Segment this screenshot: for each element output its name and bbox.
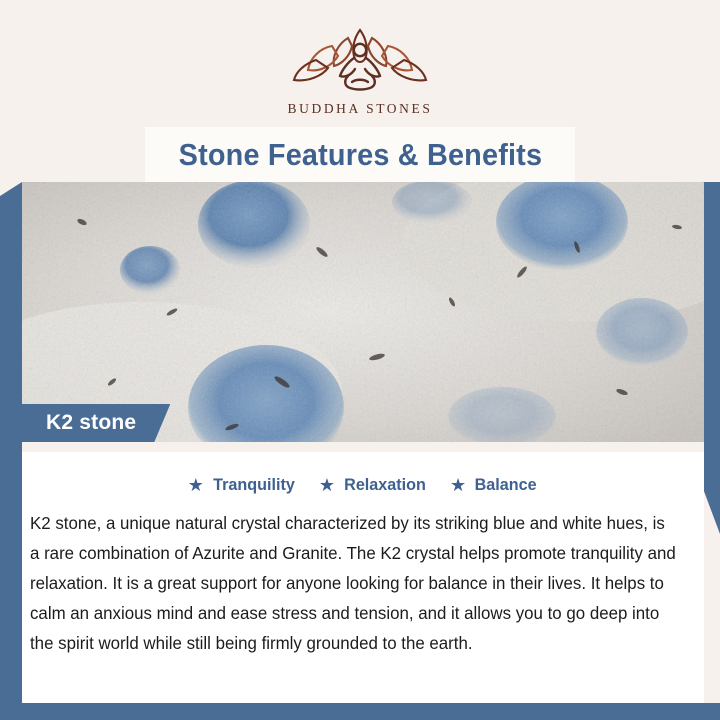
brand-logo: BUDDHA STONES [0,18,720,117]
stone-name-badge: K2 stone [22,404,170,442]
star-icon: ★ [188,476,204,494]
star-icon: ★ [450,476,466,494]
frame-bottom-accent-bar [0,703,720,720]
star-icon: ★ [319,476,335,494]
benefit-item-balance: ★ Balance [450,475,538,495]
benefit-label: Relaxation [344,475,426,495]
page-title: Stone Features & Benefits [178,137,542,173]
stone-name-label: K2 stone [46,411,136,435]
benefit-label: Balance [475,475,537,495]
stone-features-card: BUDDHA STONES Stone Features & Benefits [0,0,720,720]
content-panel: ★ Tranquility ★ Relaxation ★ Balance K2 … [22,442,704,703]
benefit-item-relaxation: ★ Relaxation [319,475,428,495]
benefit-label: Tranquility [213,475,295,495]
k2-stone-photo [22,182,704,442]
title-banner: Stone Features & Benefits [145,127,575,182]
frame-left-accent-bar [0,182,22,703]
brand-name: BUDDHA STONES [288,101,433,117]
lotus-meditation-icon [284,18,436,94]
benefit-item-tranquility: ★ Tranquility [188,475,297,495]
panel-top-strip [22,442,704,452]
benefits-row: ★ Tranquility ★ Relaxation ★ Balance [22,475,704,495]
stone-description: K2 stone, a unique natural crystal chara… [30,508,676,658]
